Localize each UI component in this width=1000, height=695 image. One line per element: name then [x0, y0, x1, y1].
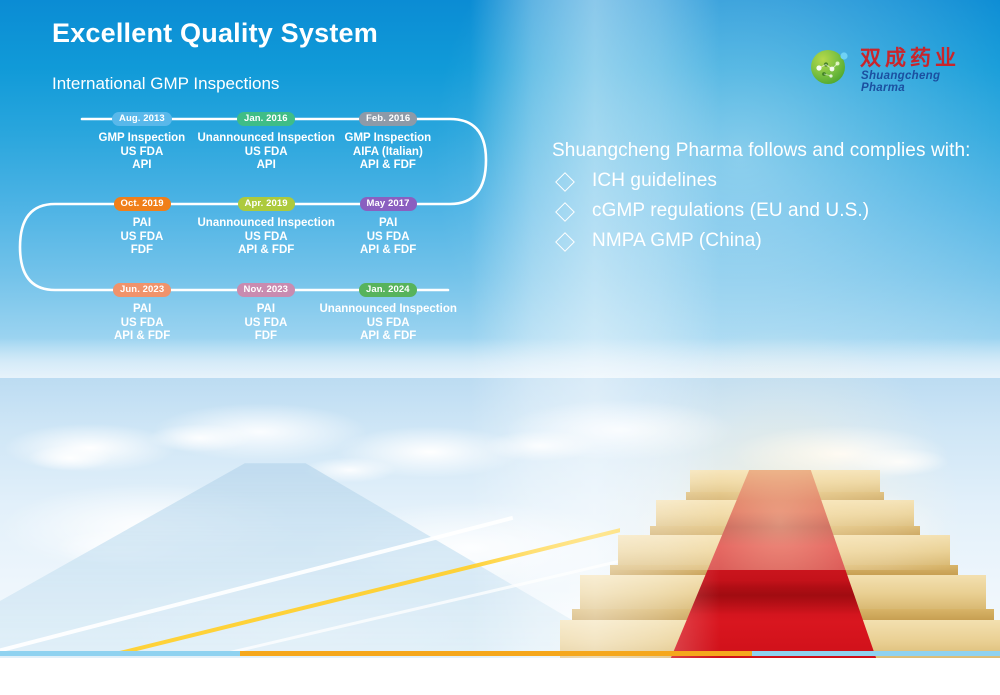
timeline-badge: Jan. 2024 [359, 283, 417, 297]
timeline-entry-line: Unannounced Inspection [320, 303, 457, 317]
logo-english-name: Shuangcheng Pharma [861, 70, 984, 94]
compliance-bullet-item: cGMP regulations (EU and U.S.) [552, 200, 982, 222]
timeline-entry-line: API & FDF [345, 159, 432, 173]
compliance-bullet-label: NMPA GMP (China) [592, 230, 762, 252]
compliance-bullet-item: ICH guidelines [552, 170, 982, 192]
timeline-badge: May 2017 [360, 197, 417, 211]
timeline-entry: Unannounced InspectionUS FDAAPI & FDF [320, 303, 457, 344]
page-title: Excellent Quality System [52, 18, 378, 49]
road [0, 455, 620, 660]
timeline-entry-line: PAI [114, 303, 170, 317]
company-logo: 双成药业 Shuangcheng Pharma [808, 42, 984, 90]
timeline-entry-line: API & FDF [114, 330, 170, 344]
diamond-bullet-icon [556, 173, 573, 190]
timeline-entry-line: Unannounced Inspection [198, 217, 335, 231]
timeline-entry-line: US FDA [99, 146, 186, 160]
timeline-entry: PAIUS FDAFDF [121, 217, 164, 258]
timeline-entry-line: GMP Inspection [345, 132, 432, 146]
slide: Excellent Quality System International G… [0, 0, 1000, 695]
timeline-entry: Unannounced InspectionUS FDAAPI [198, 132, 335, 173]
timeline-entry-line: FDF [121, 244, 164, 258]
footer-rule-orange [240, 651, 752, 656]
compliance-lead-text: Shuangcheng Pharma follows and complies … [552, 140, 982, 162]
timeline-entry-line: API [99, 159, 186, 173]
timeline-entry: GMP InspectionUS FDAAPI [99, 132, 186, 173]
road-surface [0, 455, 620, 660]
timeline-entry-line: PAI [360, 217, 416, 231]
timeline-entry-line: PAI [121, 217, 164, 231]
timeline-entry-line: US FDA [245, 317, 288, 331]
timeline-badge: Feb. 2016 [359, 112, 417, 126]
timeline-entry-line: US FDA [360, 231, 416, 245]
compliance-panel: Shuangcheng Pharma follows and complies … [552, 140, 982, 252]
timeline-entry-line: US FDA [121, 231, 164, 245]
timeline-entry: PAIUS FDAFDF [245, 303, 288, 344]
footer-area [0, 658, 1000, 695]
timeline-entry-line: US FDA [198, 231, 335, 245]
timeline-entry-line: GMP Inspection [99, 132, 186, 146]
timeline-entry-line: API & FDF [198, 244, 335, 258]
timeline-entry: PAIUS FDAAPI & FDF [114, 303, 170, 344]
staircase [560, 470, 1000, 660]
timeline-entry-line: US FDA [320, 317, 457, 331]
logo-chinese-name: 双成药业 [860, 42, 960, 72]
timeline-entry-line: US FDA [114, 317, 170, 331]
molecule-circle-icon [808, 44, 852, 88]
timeline-entry-line: API [198, 159, 335, 173]
page-subtitle: International GMP Inspections [52, 74, 279, 94]
compliance-bullet-item: NMPA GMP (China) [552, 230, 982, 252]
timeline-entry: Unannounced InspectionUS FDAAPI & FDF [198, 217, 335, 258]
timeline-entry-line: FDF [245, 330, 288, 344]
timeline-badge: Oct. 2019 [114, 197, 171, 211]
timeline-entry-line: Unannounced Inspection [198, 132, 335, 146]
diamond-bullet-icon [556, 203, 573, 220]
diamond-bullet-icon [556, 233, 573, 250]
timeline-badge: Aug. 2013 [112, 112, 172, 126]
timeline-badge: Nov. 2023 [237, 283, 296, 297]
timeline-entry: PAIUS FDAAPI & FDF [360, 217, 416, 258]
timeline-entry-line: US FDA [198, 146, 335, 160]
timeline-entry-line: PAI [245, 303, 288, 317]
timeline-entry-line: AIFA (Italian) [345, 146, 432, 160]
timeline-entry: GMP InspectionAIFA (Italian)API & FDF [345, 132, 432, 173]
compliance-bullet-label: cGMP regulations (EU and U.S.) [592, 200, 869, 222]
compliance-bullet-label: ICH guidelines [592, 170, 717, 192]
timeline-badge: Jan. 2016 [237, 112, 295, 126]
gmp-inspection-timeline: Aug. 2013GMP InspectionUS FDAAPIJan. 201… [0, 100, 520, 360]
timeline-badge: Apr. 2019 [238, 197, 295, 211]
timeline-entry-line: API & FDF [360, 244, 416, 258]
timeline-entry-line: API & FDF [320, 330, 457, 344]
timeline-badge: Jun. 2023 [113, 283, 171, 297]
